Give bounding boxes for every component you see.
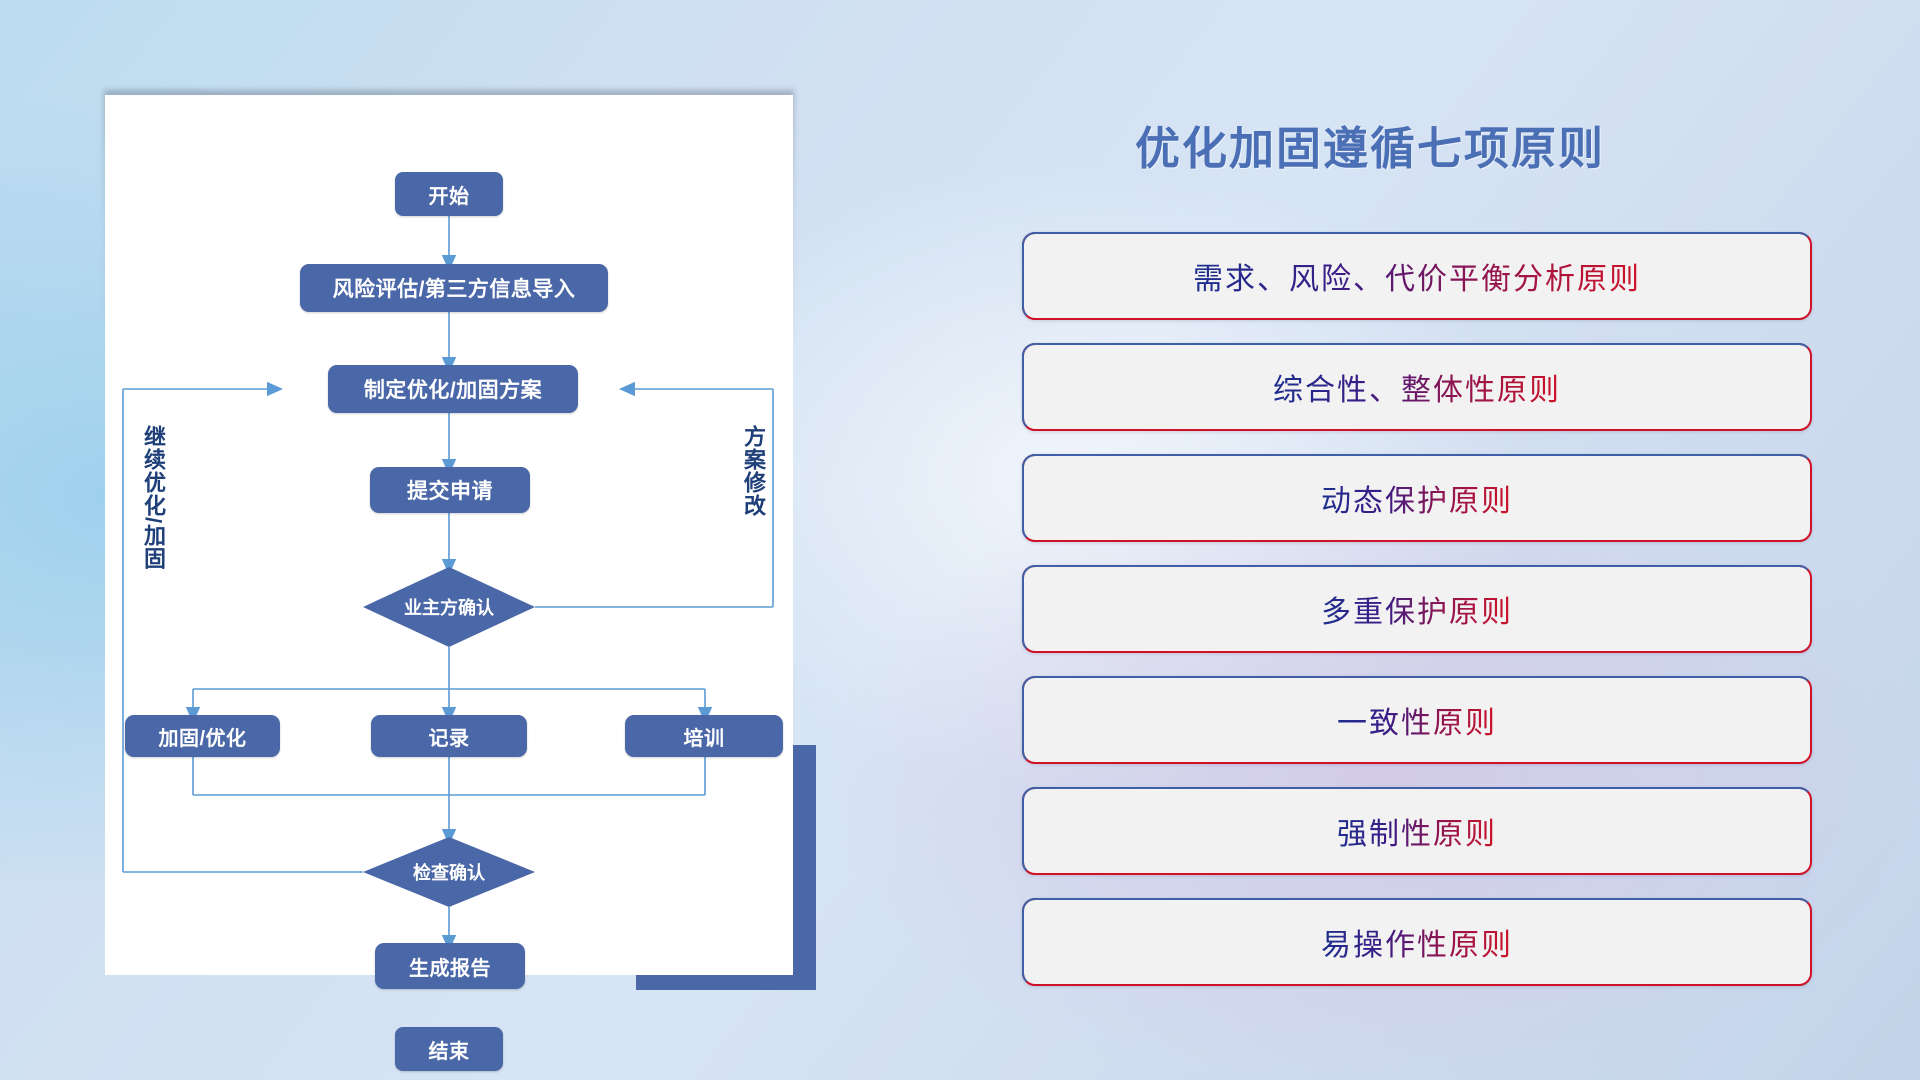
flow-node-label: 制定优化/加固方案 (364, 374, 542, 404)
flow-node-record[interactable]: 记录 (371, 715, 527, 757)
principle-item[interactable]: 易操作性原则 (1022, 898, 1812, 986)
flow-node-submit[interactable]: 提交申请 (370, 467, 530, 513)
flow-node-label: 加固/优化 (158, 722, 246, 751)
panel-title: 优化加固遵循七项原则 (1020, 112, 1720, 177)
principle-list: 需求、风险、代价平衡分析原则 综合性、整体性原则 动态保护原则 多重保护原则 一… (1022, 232, 1812, 1009)
principle-item[interactable]: 动态保护原则 (1022, 454, 1812, 542)
edge-label-text: 继续优化/加固 (141, 425, 166, 570)
flow-node-training[interactable]: 培训 (625, 715, 783, 757)
principle-label: 动态保护原则 (1321, 476, 1513, 520)
principle-label: 综合性、整体性原则 (1273, 365, 1561, 409)
principle-label: 一致性原则 (1337, 698, 1497, 742)
principle-label: 多重保护原则 (1321, 587, 1513, 631)
flow-node-end[interactable]: 结束 (395, 1027, 503, 1071)
flow-node-reinforce[interactable]: 加固/优化 (125, 715, 280, 757)
flow-node-owner-confirm[interactable]: 业主方确认 (363, 567, 535, 647)
slide-canvas: 开始 风险评估/第三方信息导入 制定优化/加固方案 提交申请 业主方确认 加固/… (0, 0, 1920, 1080)
flow-node-label: 提交申请 (407, 475, 493, 505)
principle-label: 强制性原则 (1337, 809, 1497, 853)
edge-label-plan-revision: 方案修改 (735, 425, 765, 517)
principle-item[interactable]: 综合性、整体性原则 (1022, 343, 1812, 431)
panel-title-text: 优化加固遵循七项原则 (1135, 123, 1605, 174)
flow-node-risk-assessment[interactable]: 风险评估/第三方信息导入 (300, 264, 608, 312)
flow-node-check-confirm[interactable]: 检查确认 (363, 837, 535, 907)
principle-item[interactable]: 需求、风险、代价平衡分析原则 (1022, 232, 1812, 320)
edge-label-text: 方案修改 (741, 425, 766, 517)
principle-label: 需求、风险、代价平衡分析原则 (1193, 254, 1641, 298)
flow-node-start[interactable]: 开始 (395, 172, 503, 216)
principle-item[interactable]: 多重保护原则 (1022, 565, 1812, 653)
principle-item[interactable]: 一致性原则 (1022, 676, 1812, 764)
flow-node-label: 生成报告 (409, 952, 491, 981)
flow-node-label: 记录 (429, 722, 470, 751)
flow-node-label: 业主方确认 (404, 594, 494, 620)
flow-node-label: 开始 (429, 180, 470, 209)
flow-node-label: 检查确认 (413, 859, 485, 885)
flowchart-card: 开始 风险评估/第三方信息导入 制定优化/加固方案 提交申请 业主方确认 加固/… (105, 95, 793, 975)
flow-node-label: 培训 (684, 722, 725, 751)
principle-label: 易操作性原则 (1321, 920, 1513, 964)
edge-label-continue-optimize: 继续优化/加固 (135, 425, 165, 570)
principle-item[interactable]: 强制性原则 (1022, 787, 1812, 875)
flow-node-label: 结束 (429, 1035, 470, 1064)
flow-node-generate-report[interactable]: 生成报告 (375, 943, 525, 989)
flow-node-label: 风险评估/第三方信息导入 (333, 273, 576, 303)
flow-node-plan[interactable]: 制定优化/加固方案 (328, 365, 578, 413)
